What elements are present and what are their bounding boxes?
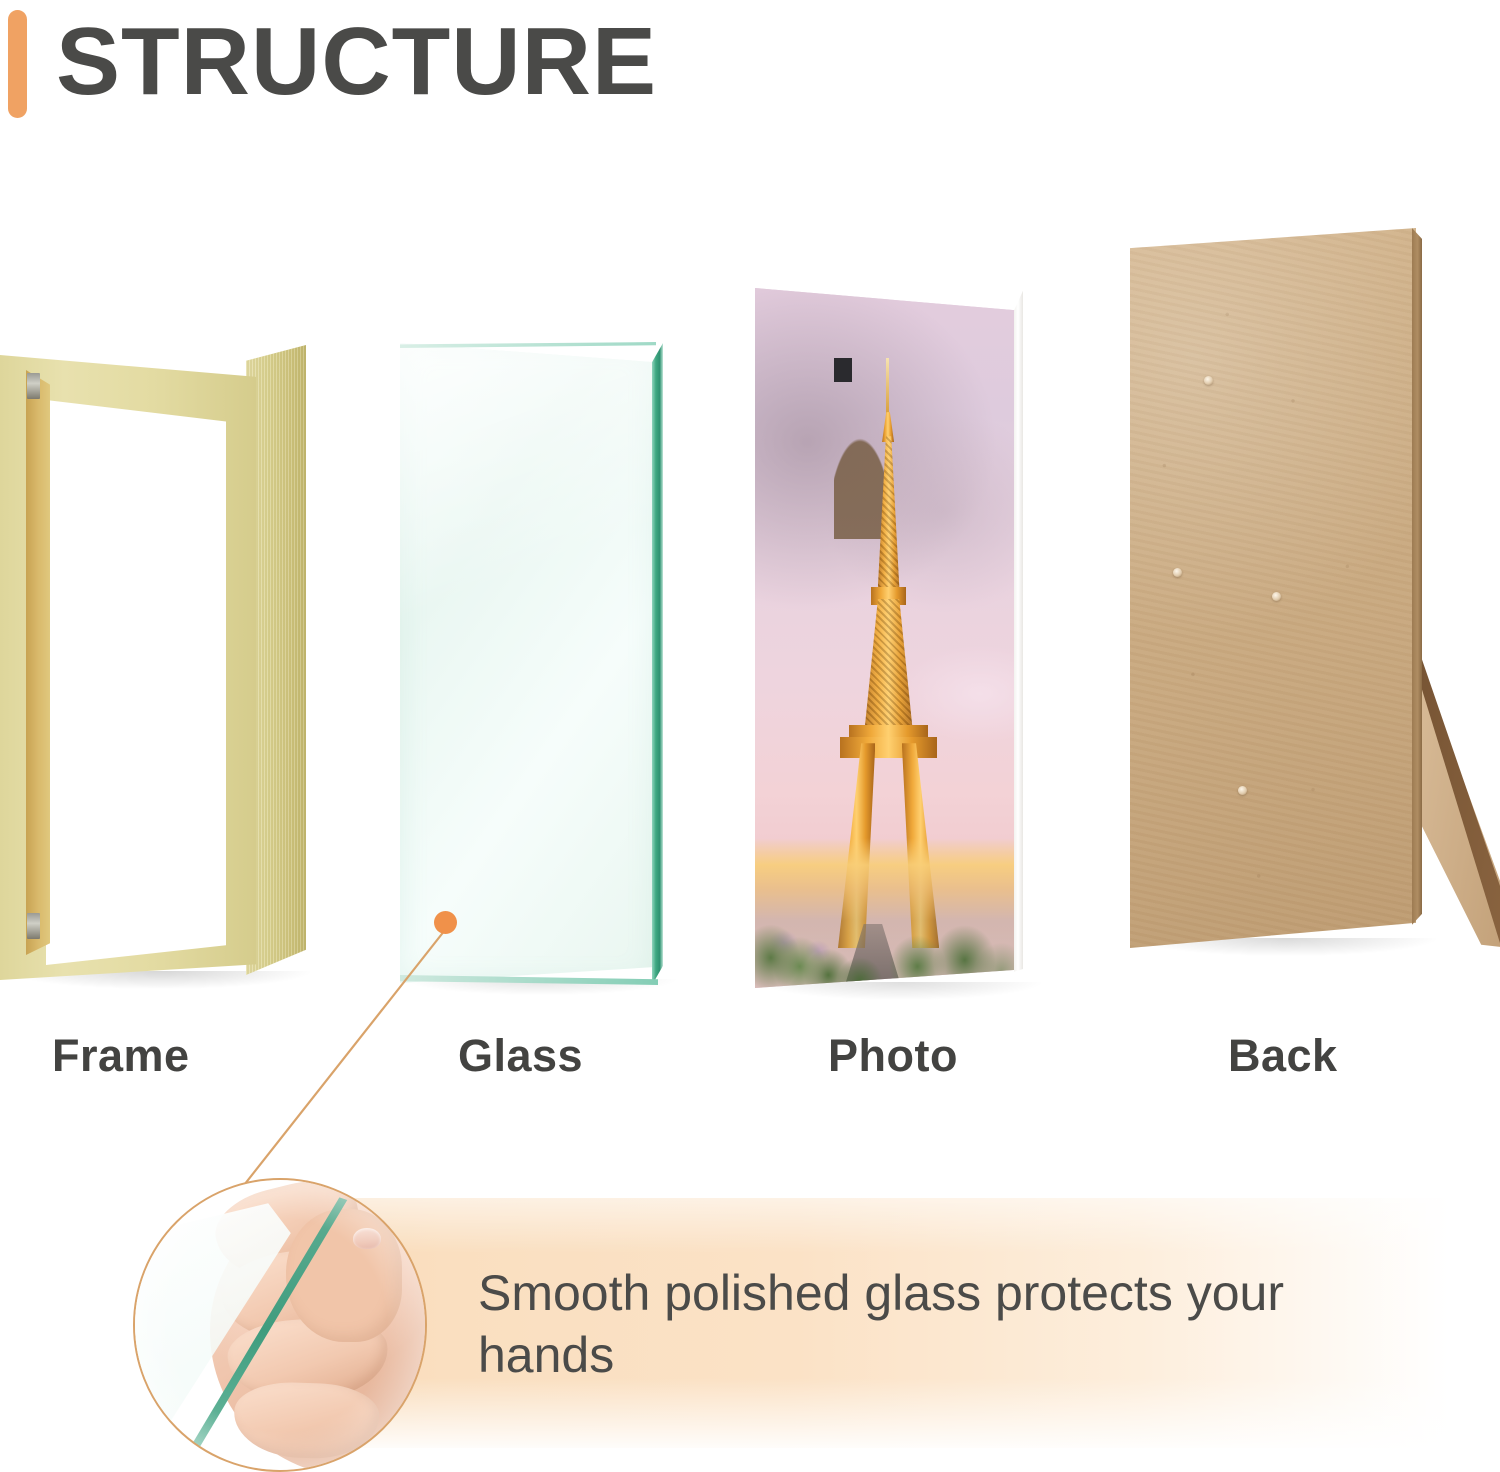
back-hole [1272,592,1281,601]
part-back [1130,228,1500,988]
photo-front-face [755,288,1017,988]
back-right-edge [1412,228,1422,950]
accent-bar [8,10,27,118]
back-hole [1238,786,1247,795]
tower-sign [834,358,853,382]
part-frame [0,335,320,985]
part-glass [400,335,700,995]
back-hole [1204,376,1213,385]
tower-arch [834,382,887,539]
back-fiberboard-texture [1130,228,1416,948]
tower-spire [886,358,889,418]
part-photo [755,288,1045,998]
photo-right-edge [1014,288,1023,990]
glass-right-edge [652,343,663,985]
inset-vignette [135,1180,425,1470]
hand-holding-glass-inset [133,1178,427,1472]
part-label-frame: Frame [52,1030,190,1082]
glass-sheen-highlight [400,343,655,983]
photo-drop-shadow [761,982,1041,1000]
tower-mid-lattice [864,599,912,731]
page-header: STRUCTURE [0,0,1500,140]
frame-clip-bottom-icon [27,913,40,939]
part-label-photo: Photo [828,1030,958,1082]
back-hole [1173,568,1182,577]
callout-anchor-dot [434,911,457,934]
part-label-back: Back [1228,1030,1338,1082]
caption-text: Smooth polished glass protects your hand… [478,1262,1378,1386]
tower-platform-0 [840,737,937,758]
glass-top-edge [400,342,656,348]
frame-clip-top-icon [27,373,40,399]
part-label-glass: Glass [458,1030,583,1082]
photo-treeline [755,880,1017,988]
frame-inner-rabbet [26,370,50,955]
page-title: STRUCTURE [56,2,657,122]
frame-opening [46,400,226,965]
